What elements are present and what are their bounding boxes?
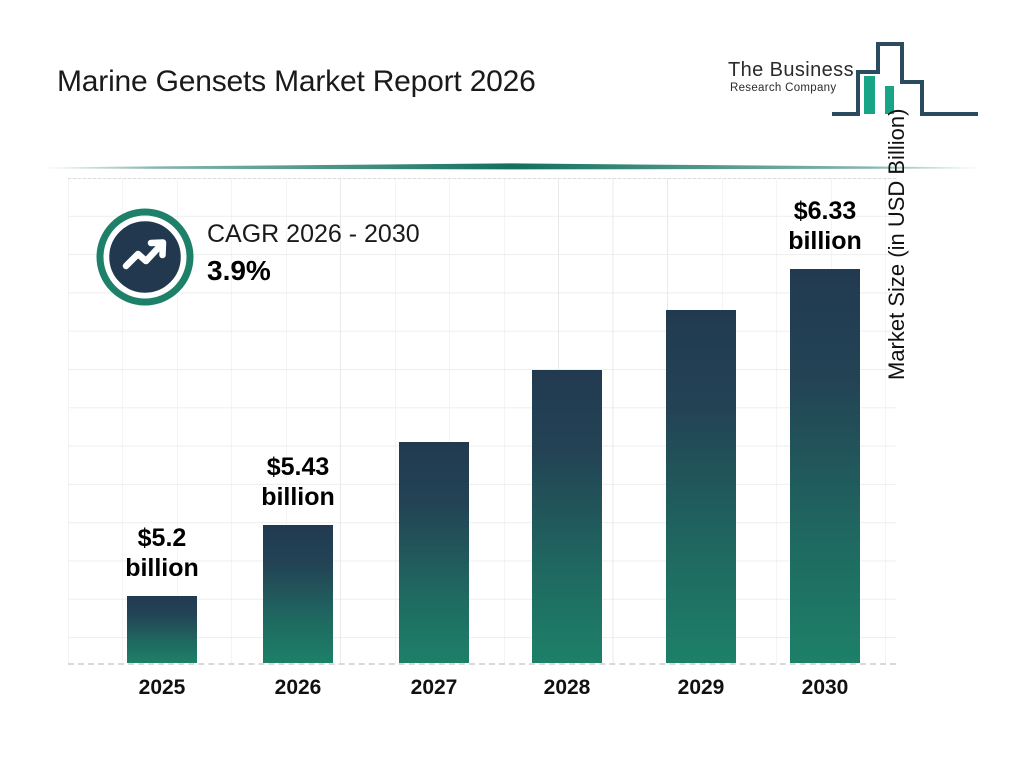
bar-2028 [532,370,602,663]
bar-2030 [790,269,860,663]
cagr-text-block: CAGR 2026 - 2030 3.9% [207,217,420,291]
x-tick-2025: 2025 [127,676,197,700]
page-title: Marine Gensets Market Report 2026 [57,65,536,99]
x-tick-2026: 2026 [263,676,333,700]
cagr-value: 3.9% [207,251,420,291]
x-tick-2028: 2028 [532,676,602,700]
x-axis: 202520262027202820292030 [68,676,896,710]
report-slide: Marine Gensets Market Report 2026 The Bu… [0,0,1024,768]
company-logo: The Business Research Company [728,38,978,120]
y-axis-title: Market Size (in USD Billion) [884,20,910,380]
cagr-callout: CAGR 2026 - 2030 3.9% [96,208,516,314]
x-tick-2030: 2030 [790,676,860,700]
bar-2025 [127,596,197,663]
trending-up-arrow-icon [96,208,194,306]
header-divider [42,158,982,167]
bar-value-label-2026: $5.43billion [203,452,393,512]
bar-2027 [399,442,469,663]
x-tick-2027: 2027 [399,676,469,700]
bar-value-label-2025: $5.2billion [67,523,257,583]
cagr-period-label: CAGR 2026 - 2030 [207,217,420,251]
x-tick-2029: 2029 [666,676,736,700]
bar-2029 [666,310,736,663]
bar-2026 [263,525,333,663]
header: Marine Gensets Market Report 2026 The Bu… [0,0,1024,145]
